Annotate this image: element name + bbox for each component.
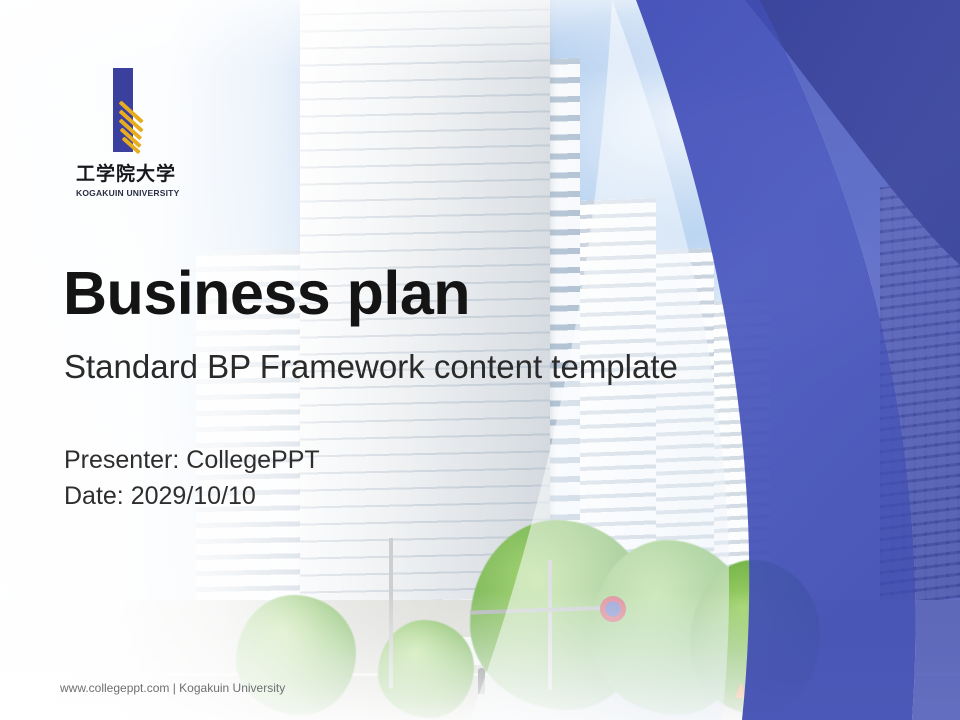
university-logo: 工学院大学 KOGAKUIN UNIVERSITY xyxy=(76,68,256,198)
logo-name-english: KOGAKUIN UNIVERSITY xyxy=(76,188,256,198)
footer-credit: www.collegeppt.com | Kogakuin University xyxy=(60,681,285,695)
title-slide: 工学院大学 KOGAKUIN UNIVERSITY Business plan … xyxy=(0,0,960,720)
logo-name-japanese: 工学院大学 xyxy=(76,159,256,186)
photo-bottom-fade xyxy=(0,590,960,720)
kogakuin-logo-icon xyxy=(104,68,148,152)
presenter-line: Presenter: CollegePPT xyxy=(64,446,320,475)
slide-subtitle: Standard BP Framework content template xyxy=(64,348,678,386)
slide-title: Business plan xyxy=(63,258,470,328)
logo-stripes-shape xyxy=(120,98,162,150)
date-line: Date: 2029/10/10 xyxy=(64,482,256,511)
